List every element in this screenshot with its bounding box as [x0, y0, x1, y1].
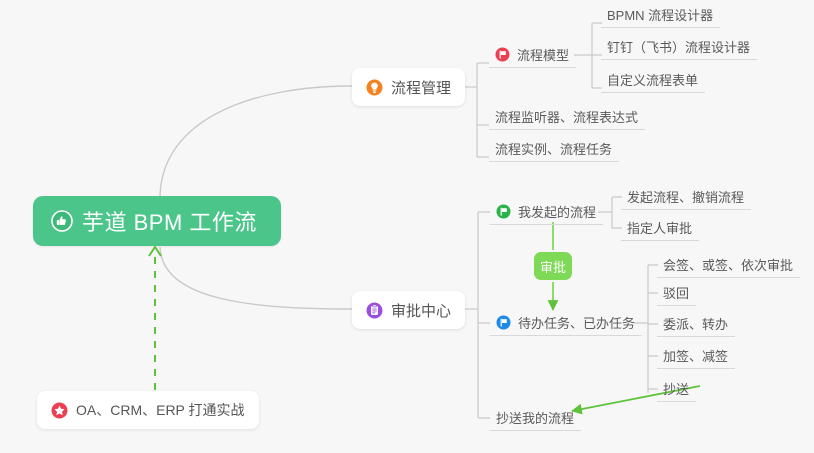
node-todo-done-tasks-label: 待办任务、已办任务 — [518, 313, 635, 332]
node-delegate-transfer[interactable]: 委派、转办 — [657, 311, 735, 337]
node-countersign-orsign-sequential[interactable]: 会签、或签、依次审批 — [657, 252, 800, 278]
node-add-remove-sign-label: 加签、减签 — [663, 346, 728, 365]
node-delegate-transfer-label: 委派、转办 — [663, 314, 728, 333]
node-bpmn-designer[interactable]: BPMN 流程设计器 — [601, 2, 720, 28]
node-start-cancel-process-label: 发起流程、撤销流程 — [627, 187, 744, 206]
node-dingtalk-feishu-designer[interactable]: 钉钉（飞书）流程设计器 — [601, 34, 757, 60]
node-bpmn-designer-label: BPMN 流程设计器 — [607, 5, 713, 24]
node-reject[interactable]: 驳回 — [657, 280, 696, 306]
node-process-model[interactable]: 流程模型 — [489, 42, 576, 68]
thumbs-up-icon — [51, 210, 73, 232]
node-approval-center[interactable]: 审批中心 — [352, 291, 465, 329]
node-assignee-approval[interactable]: 指定人审批 — [621, 215, 699, 241]
node-custom-process-form[interactable]: 自定义流程表单 — [601, 67, 705, 93]
dashed-arrow-head — [149, 247, 161, 256]
star-icon — [51, 402, 68, 419]
node-countersign-orsign-sequential-label: 会签、或签、依次审批 — [663, 255, 793, 274]
wire-root-to-process-management — [160, 86, 352, 196]
node-integration-note[interactable]: OA、CRM、ERP 打通实战 — [37, 391, 259, 429]
node-process-management-label: 流程管理 — [391, 77, 451, 98]
node-cc-to-me-process-label: 抄送我的流程 — [496, 408, 574, 427]
node-process-instance-task-label: 流程实例、流程任务 — [495, 139, 612, 158]
root-node[interactable]: 芋道 BPM 工作流 — [33, 196, 281, 246]
flag-icon — [496, 204, 511, 219]
node-start-cancel-process[interactable]: 发起流程、撤销流程 — [621, 184, 751, 210]
node-todo-done-tasks[interactable]: 待办任务、已办任务 — [490, 310, 642, 336]
node-process-listener-expression-label: 流程监听器、流程表达式 — [495, 107, 638, 126]
node-cc[interactable]: 抄送 — [657, 376, 696, 402]
flag-icon — [495, 47, 510, 62]
node-reject-label: 驳回 — [663, 283, 689, 302]
node-cc-to-me-process[interactable]: 抄送我的流程 — [490, 405, 581, 431]
node-process-management[interactable]: 流程管理 — [352, 68, 465, 106]
node-my-initiated-process[interactable]: 我发起的流程 — [490, 199, 603, 225]
node-assignee-approval-label: 指定人审批 — [627, 218, 692, 237]
node-process-instance-task[interactable]: 流程实例、流程任务 — [489, 136, 619, 162]
lightbulb-icon — [366, 79, 383, 96]
node-cc-label: 抄送 — [663, 379, 689, 398]
clipboard-icon — [366, 302, 383, 319]
flag-icon — [496, 315, 511, 330]
node-process-listener-expression[interactable]: 流程监听器、流程表达式 — [489, 104, 645, 130]
wire-root-to-approval-center — [160, 247, 352, 309]
root-label: 芋道 BPM 工作流 — [82, 205, 257, 237]
mindmap-canvas: 芋道 BPM 工作流 流程管理 流程模型 流程监听器、流程表达式 流程实例、流程… — [0, 0, 814, 453]
node-approval-center-label: 审批中心 — [391, 300, 451, 321]
node-add-remove-sign[interactable]: 加签、减签 — [657, 343, 735, 369]
approval-badge[interactable]: 审批 — [534, 252, 572, 280]
node-dingtalk-feishu-designer-label: 钉钉（飞书）流程设计器 — [607, 37, 750, 56]
node-integration-note-label: OA、CRM、ERP 打通实战 — [76, 400, 245, 420]
approval-badge-label: 审批 — [540, 257, 566, 276]
node-my-initiated-process-label: 我发起的流程 — [518, 202, 596, 221]
node-process-model-label: 流程模型 — [517, 45, 569, 64]
node-custom-process-form-label: 自定义流程表单 — [607, 70, 698, 89]
